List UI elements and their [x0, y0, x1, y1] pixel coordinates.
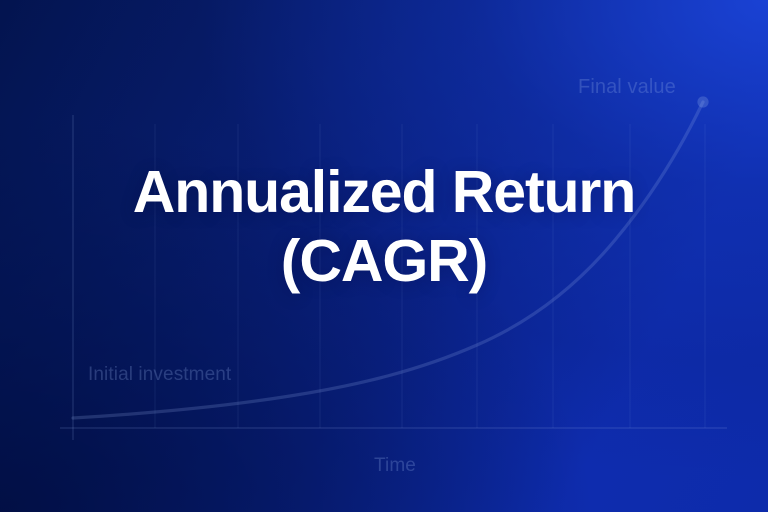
slide-canvas: Final value Initial investment Time Annu…: [0, 0, 768, 512]
page-title-line-1: Annualized Return: [28, 158, 740, 227]
final-value-marker: [697, 96, 708, 107]
time-axis-label: Time: [374, 455, 416, 477]
initial-investment-label: Initial investment: [88, 364, 231, 386]
page-title-line-2: (CAGR): [28, 227, 740, 296]
page-title: Annualized Return (CAGR): [0, 158, 768, 296]
final-value-label: Final value: [578, 76, 676, 99]
